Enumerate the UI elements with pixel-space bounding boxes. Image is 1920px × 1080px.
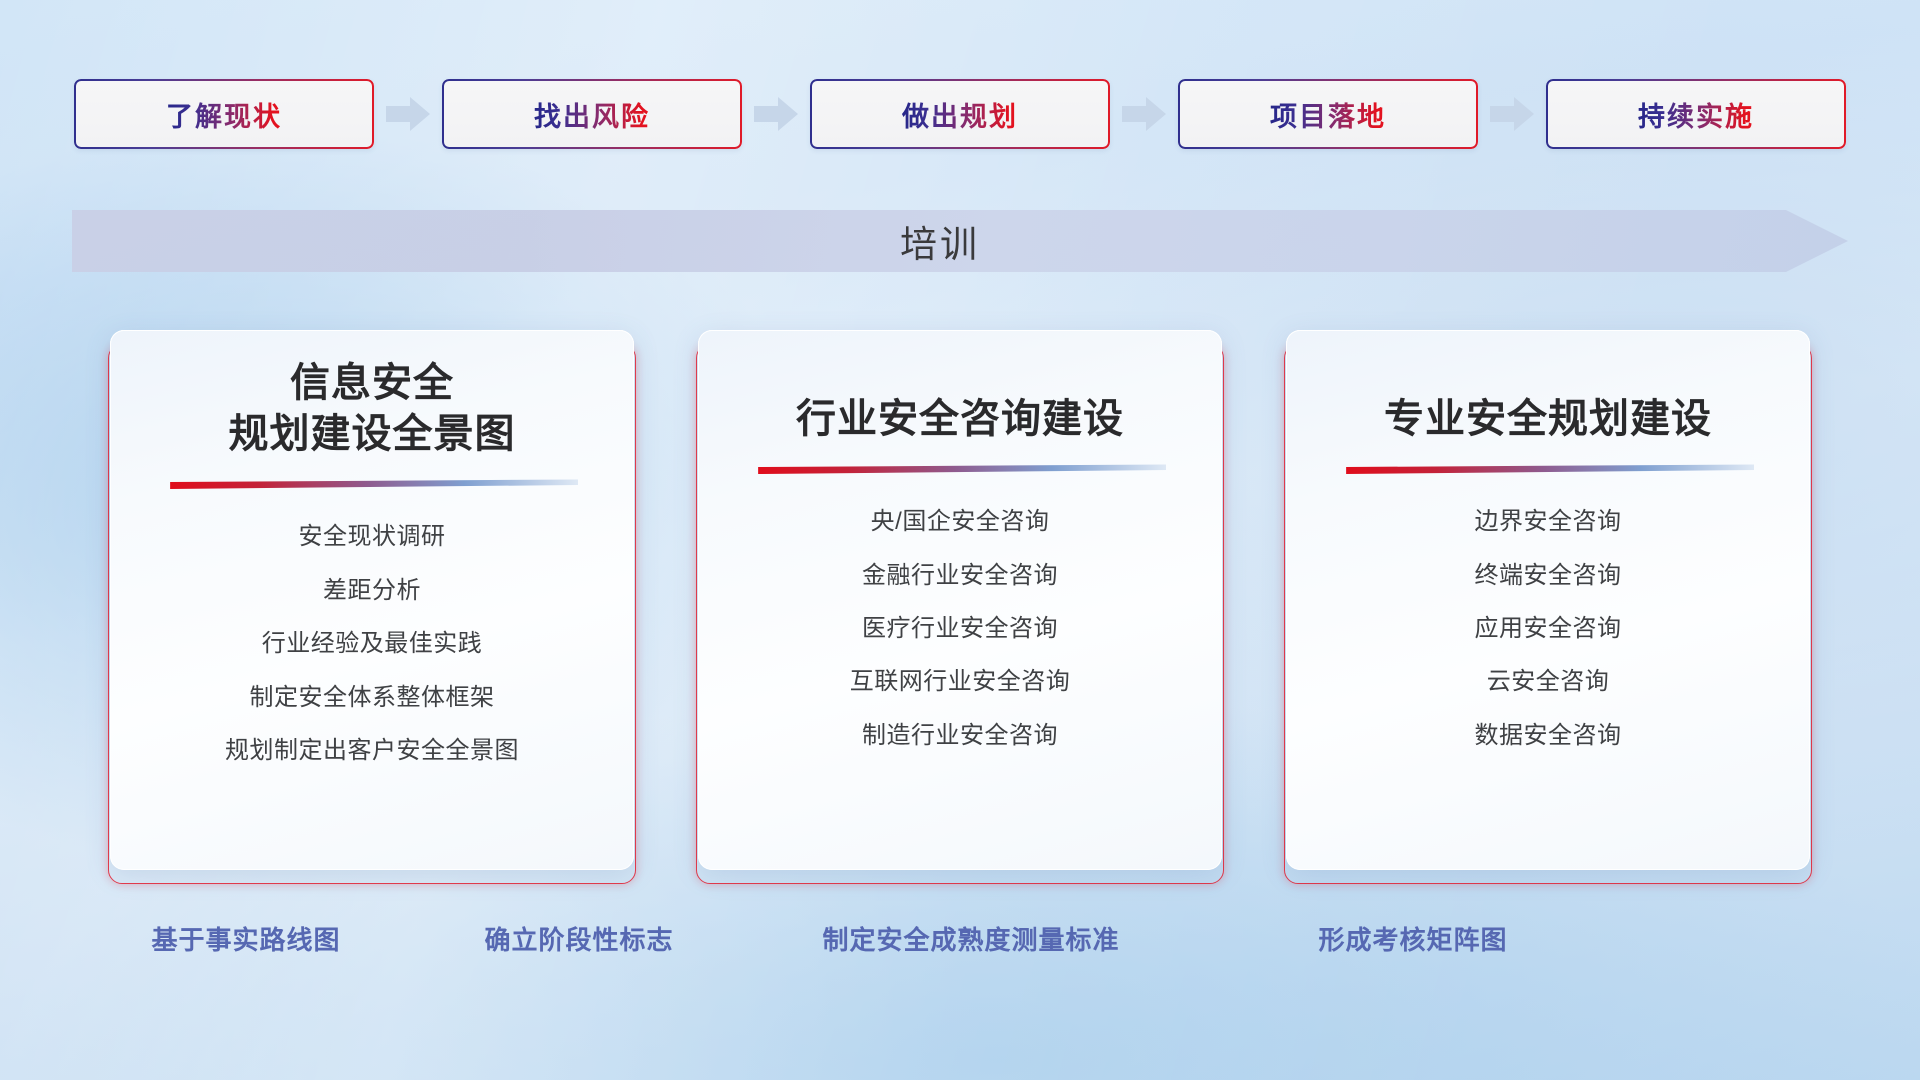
step-label-3: 做出规划: [902, 95, 1018, 134]
step-arrow-3: [1110, 97, 1178, 131]
bottom-label-2: 确立阶段性标志: [484, 920, 673, 957]
step-box-1[interactable]: 了解现状: [74, 79, 374, 149]
step-box-2[interactable]: 找出风险: [442, 79, 742, 149]
gradient-rule-icon: [166, 478, 579, 492]
card-3[interactable]: 专业安全规划建设 边界安全咨询: [1286, 330, 1810, 870]
step-box-3[interactable]: 做出规划: [810, 79, 1110, 149]
list-item: 规划制定出客户安全全景图: [225, 726, 519, 776]
list-item: 医疗行业安全咨询: [862, 604, 1058, 654]
list-item: 安全现状调研: [299, 512, 446, 562]
list-item: 制造行业安全咨询: [862, 711, 1058, 761]
card-1-divider: [166, 478, 579, 492]
step-label-2: 找出风险: [534, 95, 650, 134]
card-1-list: 安全现状调研 差距分析 行业经验及最佳实践 制定安全体系整体框架 规划制定出客户…: [225, 512, 519, 776]
card-2-title: 行业安全咨询建设: [796, 394, 1124, 445]
step-label-4: 项目落地: [1270, 95, 1386, 134]
list-item: 边界安全咨询: [1475, 497, 1622, 547]
training-banner: 培训: [72, 210, 1848, 272]
card-1[interactable]: 信息安全 规划建设全景图 安全现状调研: [110, 330, 634, 870]
card-3-title: 专业安全规划建设: [1384, 394, 1712, 445]
card-3-divider: [1342, 463, 1755, 477]
list-item: 云安全咨询: [1487, 657, 1610, 707]
card-2-list: 央/国企安全咨询 金融行业安全咨询 医疗行业安全咨询 互联网行业安全咨询 制造行…: [850, 497, 1071, 761]
chevron-right-arrow-icon: [1490, 97, 1534, 131]
list-item: 金融行业安全咨询: [862, 551, 1058, 601]
chevron-right-arrow-icon: [386, 97, 430, 131]
banner-label: 培训: [72, 210, 1848, 272]
bottom-label-1: 基于事实路线图: [151, 920, 340, 957]
step-flow: 了解现状 找出风险 做出规划 项目落地: [74, 79, 1846, 149]
list-item: 终端安全咨询: [1475, 551, 1622, 601]
list-item: 央/国企安全咨询: [871, 497, 1050, 547]
card-2-divider: [754, 463, 1167, 477]
slide-canvas: 了解现状 找出风险 做出规划 项目落地: [0, 0, 1920, 1080]
card-row: 信息安全 规划建设全景图 安全现状调研: [110, 330, 1810, 870]
step-arrow-4: [1478, 97, 1546, 131]
step-box-5[interactable]: 持续实施: [1546, 79, 1846, 149]
list-item: 数据安全咨询: [1475, 711, 1622, 761]
chevron-right-arrow-icon: [754, 97, 798, 131]
step-label-1: 了解现状: [166, 95, 282, 134]
card-1-title: 信息安全 规划建设全景图: [229, 358, 516, 460]
step-label-5: 持续实施: [1638, 95, 1754, 134]
list-item: 行业经验及最佳实践: [262, 619, 483, 669]
list-item: 制定安全体系整体框架: [250, 673, 495, 723]
card-2[interactable]: 行业安全咨询建设 央/国企安全咨询: [698, 330, 1222, 870]
step-box-4[interactable]: 项目落地: [1178, 79, 1478, 149]
list-item: 差距分析: [323, 566, 421, 616]
list-item: 应用安全咨询: [1475, 604, 1622, 654]
list-item: 互联网行业安全咨询: [850, 657, 1071, 707]
bottom-label-3: 制定安全成熟度测量标准: [822, 920, 1119, 957]
gradient-rule-icon: [754, 463, 1167, 477]
card-3-list: 边界安全咨询 终端安全咨询 应用安全咨询 云安全咨询 数据安全咨询: [1475, 497, 1622, 761]
bottom-label-4: 形成考核矩阵图: [1318, 920, 1507, 957]
step-arrow-1: [374, 97, 442, 131]
step-arrow-2: [742, 97, 810, 131]
gradient-rule-icon: [1342, 463, 1755, 477]
bottom-label-row: 基于事实路线图 确立阶段性标志 制定安全成熟度测量标准 形成考核矩阵图: [0, 920, 1920, 964]
chevron-right-arrow-icon: [1122, 97, 1166, 131]
